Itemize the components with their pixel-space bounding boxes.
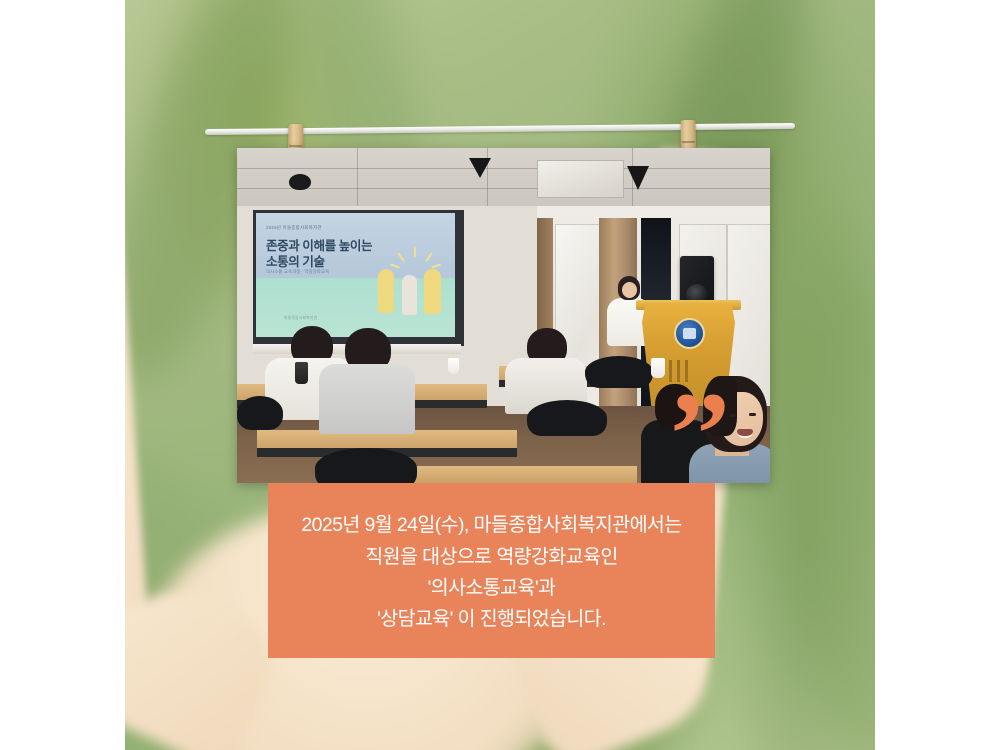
letterbox-left — [0, 0, 125, 750]
chair — [527, 400, 607, 436]
tumbler — [295, 362, 308, 384]
chair — [237, 396, 283, 430]
slide-eyebrow: 2025년 마들종합사회복지관 — [266, 225, 322, 231]
image-card: 2025년 마들종합사회복지관 존중과 이해를 높이는 소통의 기술 의사소통 … — [0, 0, 1000, 750]
slide-title-line2: 소통의 기술 — [266, 251, 325, 270]
quote-mark-icon: ” — [670, 374, 728, 494]
woman-eye — [729, 414, 736, 417]
projector-screen: 2025년 마들종합사회복지관 존중과 이해를 높이는 소통의 기술 의사소통 … — [256, 213, 455, 337]
attendee-body — [319, 364, 415, 434]
slide-footer: 마들종합사회복지관 — [284, 315, 317, 321]
ceiling-speaker-icon — [289, 174, 311, 190]
paper-cup — [651, 358, 665, 378]
ceiling-light-icon — [627, 166, 649, 190]
ceiling-vent — [537, 160, 624, 198]
ceiling — [237, 148, 770, 208]
caption-line-3: '의사소통교육'과 — [428, 576, 556, 600]
chair — [315, 448, 417, 483]
chair — [585, 356, 653, 388]
paper-cup — [448, 358, 459, 374]
desk — [387, 466, 637, 483]
institution-emblem-icon — [674, 318, 705, 349]
caption-line-4: '상담교육' 이 진행되었습니다. — [377, 607, 606, 631]
caption-line-2: 직원을 대상으로 역량강화교육인 — [365, 545, 617, 569]
illustration-person — [402, 275, 417, 315]
illustration-person — [378, 269, 394, 313]
caption-line-1: 2025년 9월 24일(수), 마들종합사회복지관에서는 — [301, 513, 681, 537]
presenter-face — [622, 282, 637, 298]
woman-eye — [749, 413, 756, 416]
sparkle-icon — [394, 247, 438, 269]
ceiling-light-icon — [469, 158, 491, 178]
caption-box: 2025년 9월 24일(수), 마들종합사회복지관에서는 직원을 대상으로 역… — [268, 483, 715, 658]
illustration-person — [424, 269, 441, 314]
slide-subtitle: 의사소통 교육과정 · 역량강화교육 — [266, 269, 329, 275]
letterbox-right — [875, 0, 1000, 750]
